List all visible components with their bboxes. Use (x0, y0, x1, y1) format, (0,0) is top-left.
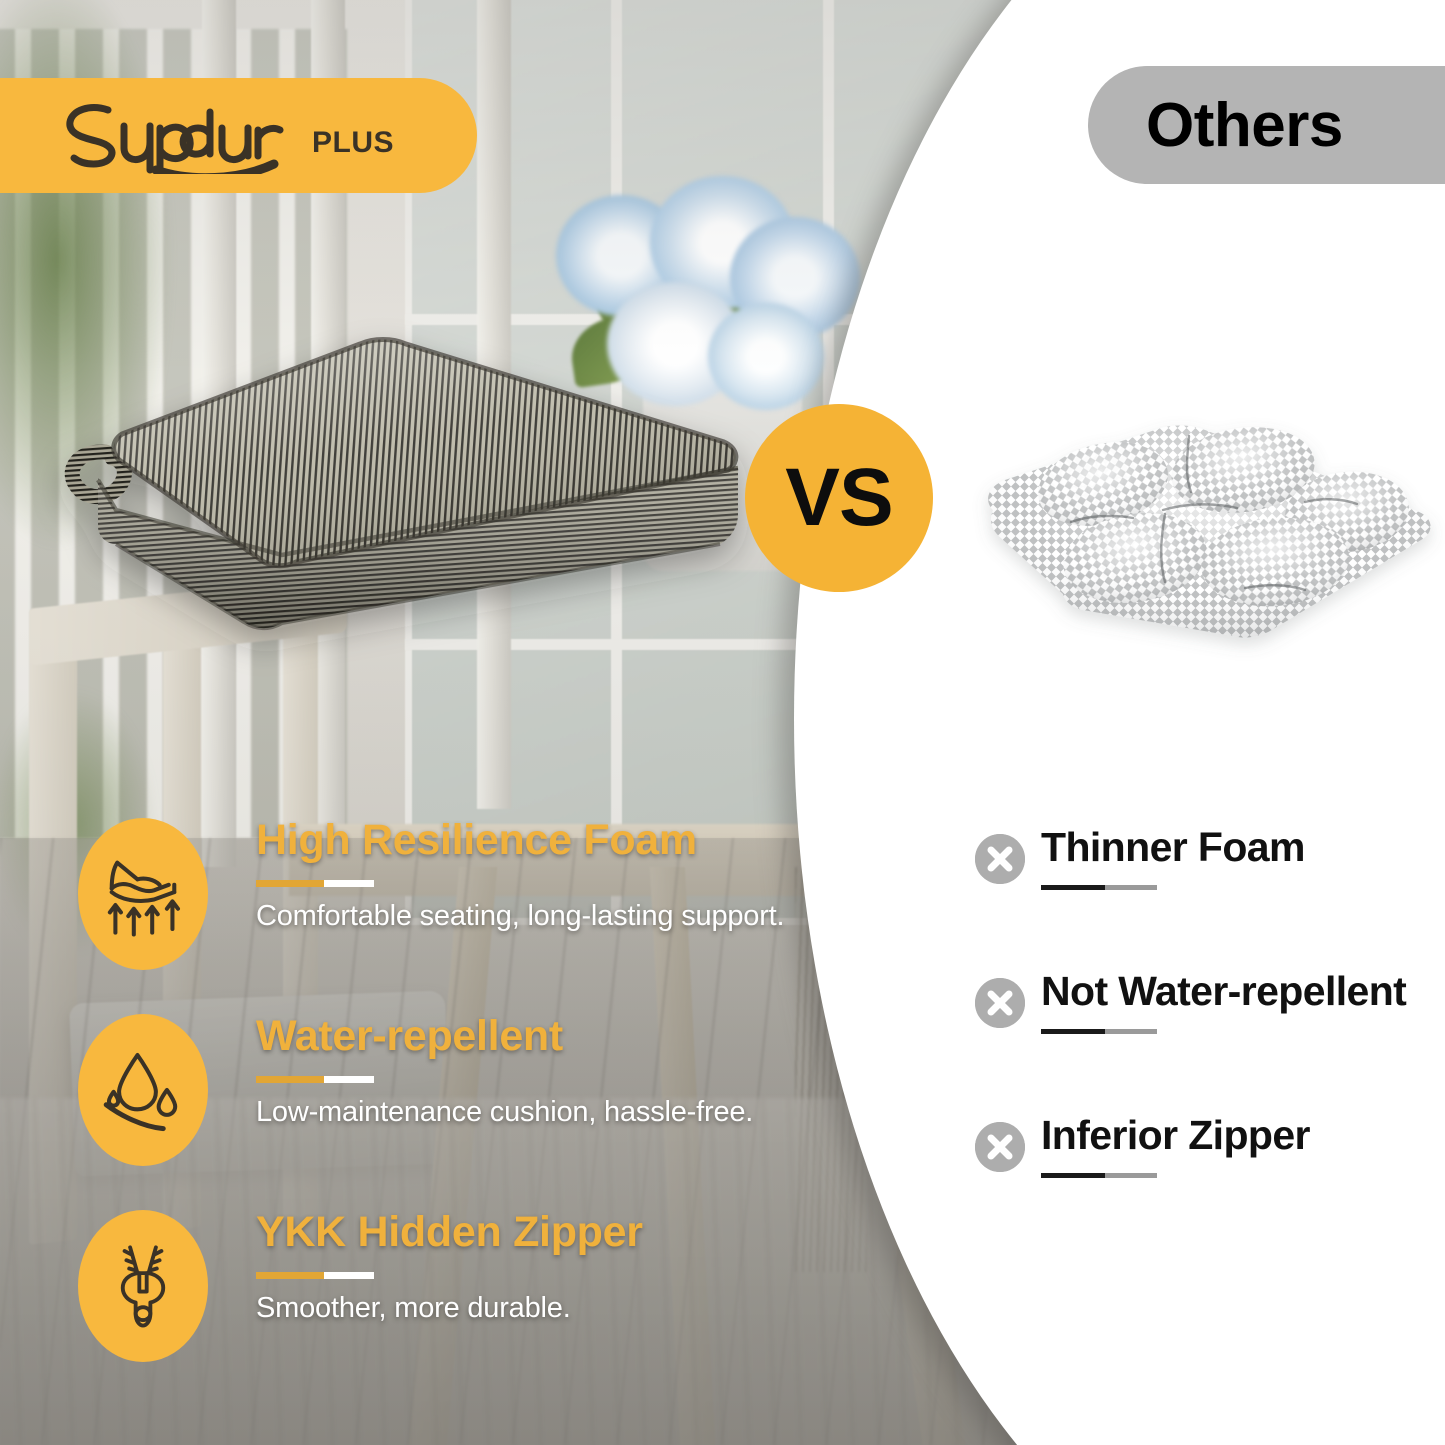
feature-item: High Resilience Foam Comfortable seating… (78, 812, 778, 1008)
circle-x-icon (975, 834, 1025, 884)
con-item: Thinner Foam (975, 828, 1445, 972)
circle-x-icon (975, 1122, 1025, 1172)
feature-title: YKK Hidden Zipper (256, 1210, 786, 1255)
feature-title: High Resilience Foam (256, 818, 786, 863)
others-label: Others (1146, 90, 1343, 161)
feature-subtitle: Low-maintenance cushion, hassle-free. (256, 1096, 786, 1129)
con-title: Thinner Foam (1041, 824, 1305, 871)
water-droplet-repel-icon (78, 1014, 208, 1166)
brand-wordmark-icon (60, 98, 310, 174)
feature-divider (256, 880, 374, 887)
con-title: Not Water-repellent (1041, 968, 1406, 1015)
con-title: Inferior Zipper (1041, 1112, 1310, 1159)
product-cushion-image (60, 330, 760, 690)
con-item: Inferior Zipper (975, 1116, 1445, 1260)
feature-divider (256, 1076, 374, 1083)
feature-subtitle: Comfortable seating, long-lasting suppor… (256, 900, 786, 933)
vs-badge: VS (745, 404, 933, 592)
product-feature-list: High Resilience Foam Comfortable seating… (78, 812, 778, 1400)
zipper-pull-icon (78, 1210, 208, 1362)
con-divider (1041, 1173, 1157, 1178)
brand-logo-pill: PLUS (0, 78, 477, 193)
con-item: Not Water-repellent (975, 972, 1445, 1116)
feature-item: Water-repellent Low-maintenance cushion,… (78, 1008, 778, 1204)
feature-title: Water-repellent (256, 1014, 786, 1059)
con-divider (1041, 1029, 1157, 1034)
circle-x-icon (975, 978, 1025, 1028)
feature-item: YKK Hidden Zipper Smoother, more durable… (78, 1204, 778, 1400)
competitor-drawback-list: Thinner Foam Not Water-repellent (975, 828, 1445, 1260)
brand-suffix-label: PLUS (312, 126, 394, 160)
infographic-canvas: PLUS Others VS (0, 0, 1445, 1445)
hand-with-up-arrows-icon (78, 818, 208, 970)
others-header-pill: Others (1088, 66, 1445, 184)
competitor-cushion-image (975, 392, 1445, 692)
vs-label: VS (785, 451, 892, 545)
feature-divider (256, 1272, 374, 1279)
con-divider (1041, 885, 1157, 890)
feature-subtitle: Smoother, more durable. (256, 1292, 786, 1325)
